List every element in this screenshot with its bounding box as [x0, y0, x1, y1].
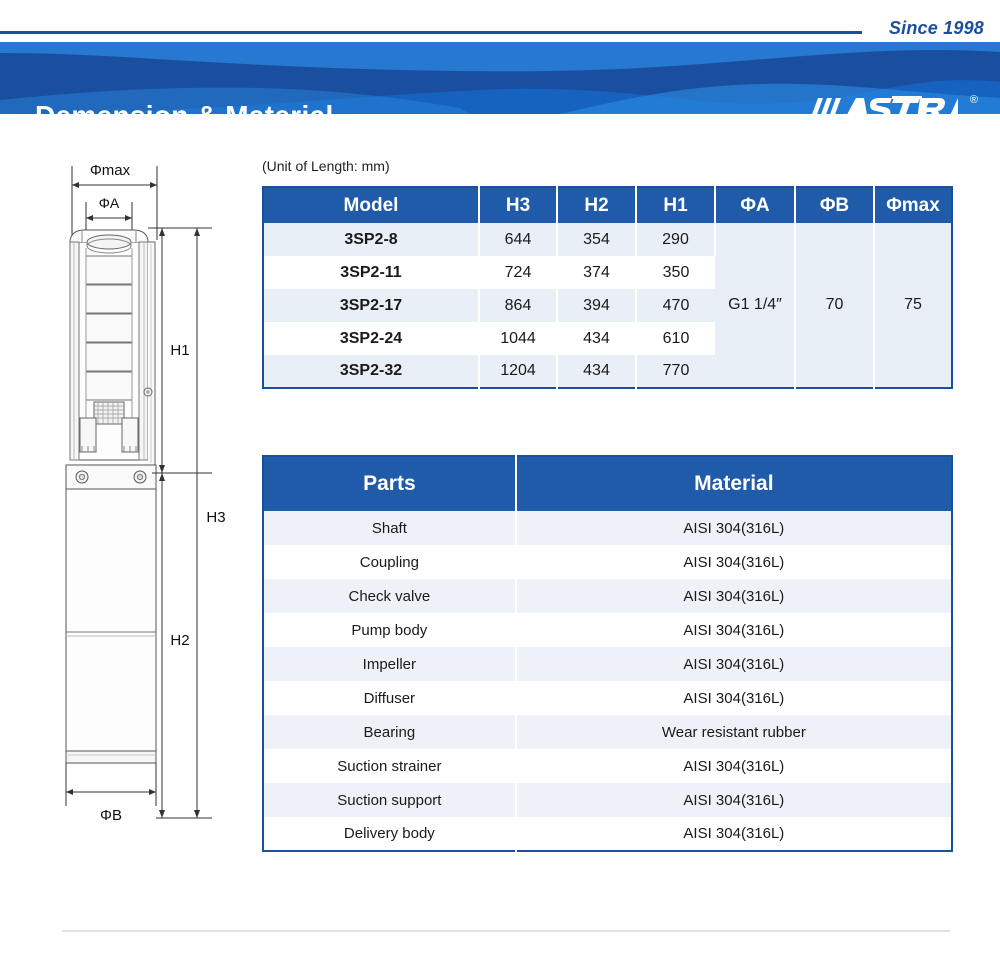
cell-part: Impeller: [263, 647, 516, 681]
cell-material: AISI 304(316L): [516, 817, 952, 851]
footer-divider: [62, 930, 950, 932]
cell-model: 3SP2-17: [263, 289, 479, 322]
cell-part: Suction support: [263, 783, 516, 817]
cell-h3: 1204: [479, 355, 557, 388]
col-header-h1: H1: [636, 187, 715, 223]
suction-strainer: [94, 402, 124, 424]
cell-h3: 644: [479, 223, 557, 256]
cell-material: AISI 304(316L): [516, 579, 952, 613]
cell-h1: 770: [636, 355, 715, 388]
cell-h3: 1044: [479, 322, 557, 355]
cell-part: Coupling: [263, 545, 516, 579]
table-row: ShaftAISI 304(316L): [263, 511, 952, 545]
col-header-phi-max: Φmax: [874, 187, 952, 223]
cell-model: 3SP2-11: [263, 256, 479, 289]
cell-part: Shaft: [263, 511, 516, 545]
cell-h2: 434: [557, 322, 636, 355]
page-banner: Demension & Material ® ELECTRICPUMP: [0, 42, 1000, 114]
unit-note: (Unit of Length: mm): [262, 158, 390, 174]
header-rule: [0, 31, 862, 34]
cell-part: Pump body: [263, 613, 516, 647]
dimension-table-header-row: Model H3 H2 H1 ΦA ΦB Φmax: [263, 187, 952, 223]
mastra-wordmark-icon: [808, 96, 958, 114]
table-row: 3SP2-8 644 354 290 G1 1/4″ 70 75: [263, 223, 952, 256]
cell-model: 3SP2-24: [263, 322, 479, 355]
cell-h2: 394: [557, 289, 636, 322]
cell-material: AISI 304(316L): [516, 545, 952, 579]
cell-material: AISI 304(316L): [516, 511, 952, 545]
cell-part: Bearing: [263, 715, 516, 749]
table-row: ImpellerAISI 304(316L): [263, 647, 952, 681]
cell-part: Check valve: [263, 579, 516, 613]
col-header-phi-a: ΦA: [715, 187, 795, 223]
since-label: Since 1998: [889, 18, 984, 39]
cell-h2: 434: [557, 355, 636, 388]
top-strip: Since 1998: [0, 0, 1000, 42]
table-row: DiffuserAISI 304(316L): [263, 681, 952, 715]
cell-material: AISI 304(316L): [516, 613, 952, 647]
dimension-table: Model H3 H2 H1 ΦA ΦB Φmax 3SP2-8 644 354…: [262, 186, 953, 389]
col-header-h2: H2: [557, 187, 636, 223]
table-row: BearingWear resistant rubber: [263, 715, 952, 749]
cell-material: Wear resistant rubber: [516, 715, 952, 749]
col-header-h3: H3: [479, 187, 557, 223]
cell-material: AISI 304(316L): [516, 681, 952, 715]
cell-h1: 350: [636, 256, 715, 289]
col-header-parts: Parts: [263, 456, 516, 511]
phi-a-label: ΦA: [99, 195, 120, 211]
page-title: Demension & Material: [35, 100, 334, 114]
cell-part: Suction strainer: [263, 749, 516, 783]
cell-part: Delivery body: [263, 817, 516, 851]
pump-dimension-drawing: Φmax ΦA: [0, 130, 250, 870]
brand-logo: ® ELECTRICPUMP: [808, 96, 978, 114]
table-row: Check valveAISI 304(316L): [263, 579, 952, 613]
col-header-model: Model: [263, 187, 479, 223]
registered-trademark-icon: ®: [970, 94, 978, 106]
table-row: CouplingAISI 304(316L): [263, 545, 952, 579]
pump-drawing-svg: Φmax ΦA: [0, 130, 250, 870]
table-row: Pump bodyAISI 304(316L): [263, 613, 952, 647]
motor-body: [66, 489, 156, 751]
cell-material: AISI 304(316L): [516, 783, 952, 817]
table-row: Delivery bodyAISI 304(316L): [263, 817, 952, 851]
cell-phi-b: 70: [795, 223, 874, 388]
parts-material-table: Parts Material ShaftAISI 304(316L) Coupl…: [262, 455, 953, 852]
phi-b-label: ΦB: [100, 807, 122, 824]
cell-h2: 354: [557, 223, 636, 256]
cell-model: 3SP2-32: [263, 355, 479, 388]
cell-part: Diffuser: [263, 681, 516, 715]
parts-table-header-row: Parts Material: [263, 456, 952, 511]
cell-material: AISI 304(316L): [516, 749, 952, 783]
col-header-phi-b: ΦB: [795, 187, 874, 223]
table-row: Suction supportAISI 304(316L): [263, 783, 952, 817]
cell-phi-a: G1 1/4″: [715, 223, 795, 388]
col-header-material: Material: [516, 456, 952, 511]
cell-model: 3SP2-8: [263, 223, 479, 256]
table-row: Suction strainerAISI 304(316L): [263, 749, 952, 783]
phi-max-label: Φmax: [90, 162, 131, 179]
cell-h3: 724: [479, 256, 557, 289]
cell-h2: 374: [557, 256, 636, 289]
cell-h1: 470: [636, 289, 715, 322]
h2-label: H2: [170, 632, 189, 649]
cell-material: AISI 304(316L): [516, 647, 952, 681]
cell-h3: 864: [479, 289, 557, 322]
cell-h1: 290: [636, 223, 715, 256]
h3-label: H3: [206, 509, 225, 526]
cell-phi-max: 75: [874, 223, 952, 388]
h1-label: H1: [170, 342, 189, 359]
cell-h1: 610: [636, 322, 715, 355]
